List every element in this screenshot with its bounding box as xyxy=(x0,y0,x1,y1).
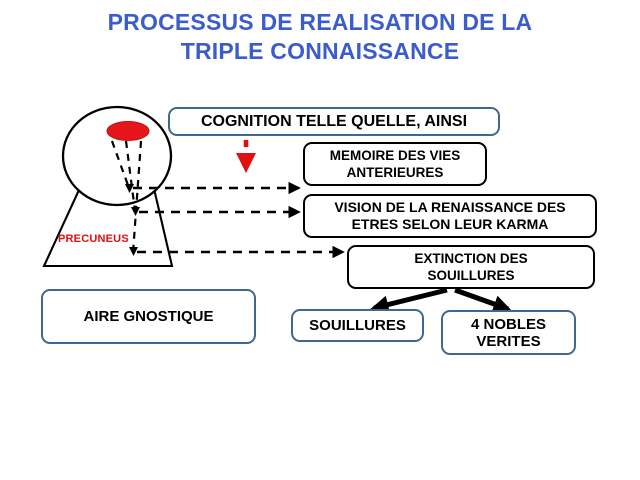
arrow-extinction-to-nobles xyxy=(455,290,508,309)
arrow-extinction-to-souillures xyxy=(374,290,447,308)
box-souillures-label: SOUILLURES xyxy=(309,317,406,334)
box-vision-renaissance[interactable]: VISION DE LA RENAISSANCE DES ETRES SELON… xyxy=(303,194,597,238)
box-souillures[interactable]: SOUILLURES xyxy=(291,309,424,342)
box-memoire-line-1: MEMOIRE DES VIES xyxy=(330,147,461,164)
box-4-nobles-verites[interactable]: 4 NOBLES VERITES xyxy=(441,310,576,355)
box-nobles-line-2: VERITES xyxy=(471,333,546,350)
box-memoire-line-2: ANTERIEURES xyxy=(330,164,461,181)
box-memoire-des-vies-anterieures[interactable]: MEMOIRE DES VIES ANTERIEURES xyxy=(303,142,487,186)
diagram-canvas: PROCESSUS DE REALISATION DE LA TRIPLE CO… xyxy=(0,0,640,480)
box-extinction-des-souillures[interactable]: EXTINCTION DES SOUILLURES xyxy=(347,245,595,289)
box-cognition[interactable]: COGNITION TELLE QUELLE, AINSI xyxy=(168,107,500,136)
box-extinction-line-2: SOUILLURES xyxy=(414,267,527,284)
precuneus-red-ellipse xyxy=(107,122,149,141)
precuneus-label: PRECUNEUS xyxy=(58,233,129,245)
box-vision-line-2: ETRES SELON LEUR KARMA xyxy=(334,216,565,233)
box-vision-line-1: VISION DE LA RENAISSANCE DES xyxy=(334,199,565,216)
box-aire-label: AIRE GNOSTIQUE xyxy=(83,308,213,325)
box-nobles-line-1: 4 NOBLES xyxy=(471,316,546,333)
box-aire-gnostique[interactable]: AIRE GNOSTIQUE xyxy=(41,289,256,344)
box-cognition-label: COGNITION TELLE QUELLE, AINSI xyxy=(201,113,467,130)
box-extinction-line-1: EXTINCTION DES xyxy=(414,250,527,267)
